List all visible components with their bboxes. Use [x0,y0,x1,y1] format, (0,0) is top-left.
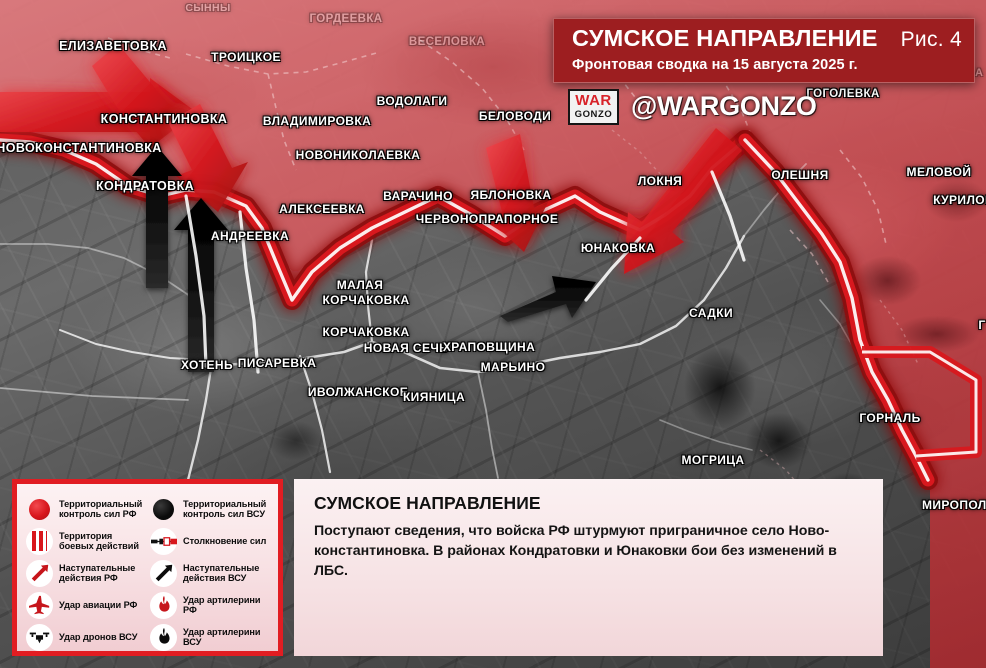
legend-item: Удар дронов ВСУ [26,621,146,653]
logo-gonzo-text: GONZO [570,110,617,120]
black-drone-icon [26,624,53,651]
red-disc-icon [26,496,53,523]
wargonzo-logo: WAR GONZO [568,89,619,125]
logo-war-text: WAR [570,93,617,108]
figure-number: Рис. 4 [901,28,962,52]
legend-item-label: Удар артилерини РФ [183,595,270,616]
legend-item: Удар артилерини РФ [150,589,270,621]
situation-report-panel: СУМСКОЕ НАПРАВЛЕНИЕ Поступают сведения, … [294,479,883,656]
wargonzo-brand[interactable]: WAR GONZO @WARGONZO [568,89,817,125]
legend-item-label: Территория боевых действий [59,531,146,552]
legend-item-label: Столкновение сил [183,536,266,546]
map-legend: Территориальный контроль сил РФТерритори… [12,479,283,656]
legend-item-label: Удар артилерини ВСУ [183,627,270,648]
legend-item-label: Наступательные действия РФ [59,563,146,584]
legend-item: Территориальный контроль сил РФ [26,493,146,525]
title-subtitle: Фронтовая сводка на 15 августа 2025 г. [572,57,962,73]
report-title: СУМСКОЕ НАПРАВЛЕНИЕ [314,493,863,514]
legend-item: Столкновение сил [150,525,270,557]
legend-item-label: Территориальный контроль сил РФ [59,499,146,520]
legend-item: Наступательные действия РФ [26,557,146,589]
legend-item: Территория боевых действий [26,525,146,557]
legend-item-label: Удар дронов ВСУ [59,632,137,642]
clash-line-icon [150,528,177,555]
legend-item: Удар артилерини ВСУ [150,621,270,653]
legend-item-label: Удар авиации РФ [59,600,137,610]
red-artillery-icon [150,592,177,619]
title-banner: СУМСКОЕ НАПРАВЛЕНИЕ Рис. 4 Фронтовая сво… [553,18,975,83]
page-title: СУМСКОЕ НАПРАВЛЕНИЕ [572,26,878,51]
legend-item: Удар авиации РФ [26,589,146,621]
black-arrow-icon [150,560,177,587]
red-bars-icon [26,528,53,555]
legend-item-label: Наступательные действия ВСУ [183,563,270,584]
red-aircraft-icon [26,592,53,619]
map-infographic: СЫННЫГОРДЕЕВКАВЕСЕЛОВКАЕЛИЗАВЕТОВКАТРОИЦ… [0,0,986,668]
black-artillery-icon [150,624,177,651]
legend-item-label: Территориальный контроль сил ВСУ [183,499,270,520]
red-arrow-icon [26,560,53,587]
report-body: Поступают сведения, что войска РФ штурму… [314,521,863,581]
black-disc-icon [150,496,177,523]
legend-item: Наступательные действия ВСУ [150,557,270,589]
social-handle[interactable]: @WARGONZO [631,91,817,122]
legend-grid: Территориальный контроль сил РФТерритори… [26,493,270,653]
legend-item: Территориальный контроль сил ВСУ [150,493,270,525]
